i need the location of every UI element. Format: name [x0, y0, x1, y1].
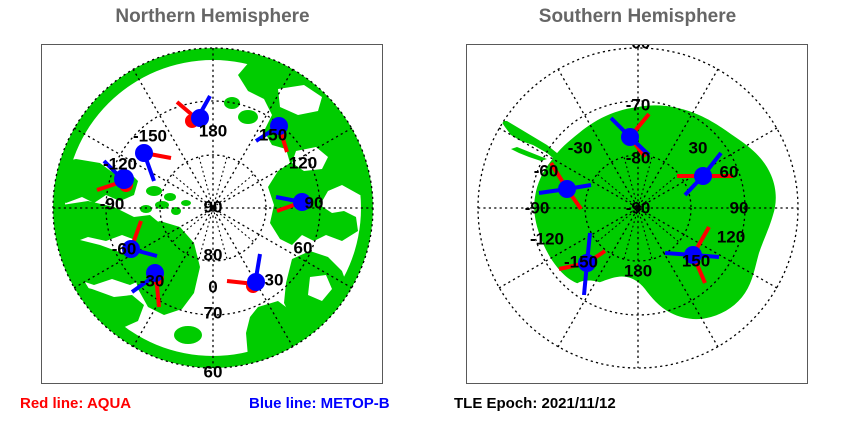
legend-aqua-label: Red line: AQUA: [20, 395, 131, 412]
grid-label-lon-180-s: 180: [624, 263, 652, 280]
grid-label-lon-90: 90: [305, 195, 324, 212]
grid-label-lat-neg80: -80: [626, 150, 651, 167]
grid-label-lon-neg90-s: -90: [525, 200, 550, 217]
grid-label-lon-neg120-s: -120: [530, 231, 564, 248]
grid-label-lat-90: 90: [204, 199, 223, 216]
grid-label-lon-60: 60: [294, 240, 313, 257]
grid-label-lon-30: 30: [265, 272, 284, 289]
legend-metop-label: Blue line: METOP-B: [249, 395, 390, 412]
grid-label-lat-neg60-top: -60: [626, 44, 651, 52]
grid-label-lon-120-s: 120: [717, 229, 745, 246]
arctic-island-2: [164, 193, 176, 201]
grid-label-lon-neg30: -30: [140, 273, 165, 290]
grid-label-lat-neg90: -90: [626, 200, 651, 217]
northern-hemisphere-panel: Northern Hemisphere: [0, 0, 425, 425]
grid-label-lat-60: 60: [204, 364, 223, 381]
grid-label-lon-150: 150: [259, 127, 287, 144]
iceland-landmass: [174, 326, 202, 344]
arctic-island-8: [224, 97, 240, 109]
south-shetland-3: [509, 128, 517, 134]
grid-label-lon-90-s: 90: [730, 200, 749, 217]
grid-label-lon-neg60-s: -60: [534, 163, 559, 180]
grid-label-lat-neg70: -70: [626, 97, 651, 114]
grid-label-lon-neg120: -120: [103, 156, 137, 173]
grid-label-lat-70: 70: [204, 305, 223, 322]
grid-label-lon-180: 180: [199, 123, 227, 140]
grid-label-lon-neg150-s: -150: [564, 254, 598, 271]
arctic-island-6: [181, 200, 191, 206]
arctic-island-5: [140, 205, 152, 213]
polar-plot-north: 180 -150 150 -120 120 -90 90 -60 60 -30 …: [41, 44, 383, 384]
grid-label-lon-150-s: 150: [682, 253, 710, 270]
grid-label-lon-neg30-s: -30: [568, 140, 593, 157]
panel-title-south: Southern Hemisphere: [425, 6, 850, 28]
panel-title-north: Northern Hemisphere: [0, 6, 425, 28]
tle-epoch-label: TLE Epoch: 2021/11/12: [454, 395, 616, 412]
arctic-island-1: [146, 186, 162, 196]
grid-label-lon-30-s: 30: [689, 140, 708, 157]
southern-hemisphere-panel: Southern Hemisphere: [425, 0, 850, 425]
grid-label-lon-neg90: -90: [100, 196, 125, 213]
grid-label-lon-neg60: -60: [112, 241, 137, 258]
grid-label-lon-60-s: 60: [720, 164, 739, 181]
south-shetland-2: [483, 104, 491, 110]
grid-label-lon-neg150: -150: [133, 128, 167, 145]
arctic-island-7: [238, 110, 258, 124]
south-shetland-1: [492, 112, 502, 118]
grid-label-lat-80: 80: [204, 247, 223, 264]
grid-label-lon-120: 120: [289, 155, 317, 172]
polar-plot-south: -60 -70 -80 -90 -30 30 -60 60 -90 90 -12…: [466, 44, 808, 384]
grid-label-lon-0: 0: [208, 279, 217, 296]
